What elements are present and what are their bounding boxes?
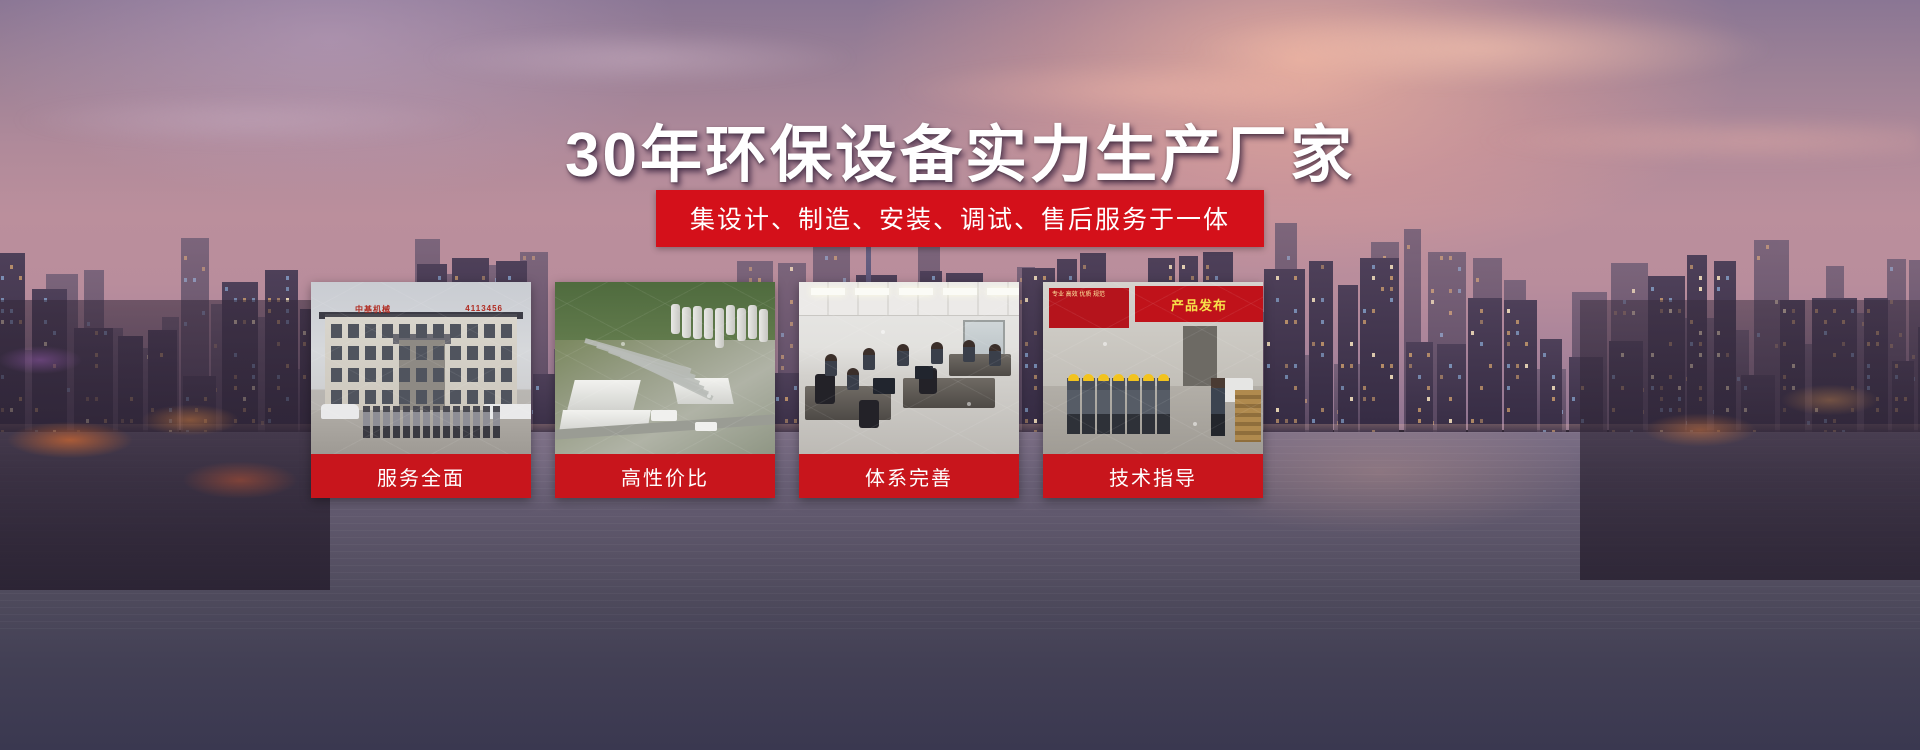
feature-card[interactable]: 专业 高效 优质 规范 产品发布 技术指导 bbox=[1043, 282, 1263, 498]
feature-card[interactable]: 体系完善 bbox=[799, 282, 1019, 498]
card-caption: 高性价比 bbox=[555, 454, 775, 498]
card-photo-headquarters: 中基机械 4113456 bbox=[311, 282, 531, 454]
building-sign-text: 中基机械 bbox=[355, 304, 391, 315]
promo-banner: 30年环保设备实力生产厂家 集设计、制造、安装、调试、售后服务于一体 中基机械 … bbox=[0, 0, 1920, 750]
page-title: 30年环保设备实力生产厂家 bbox=[0, 104, 1920, 194]
building-phone-text: 4113456 bbox=[465, 304, 503, 313]
factory-side-banner: 专业 高效 优质 规范 bbox=[1049, 288, 1129, 328]
subtitle-wrap: 集设计、制造、安装、调试、售后服务于一体 bbox=[0, 190, 1920, 247]
right-riverbank bbox=[1580, 300, 1920, 580]
subtitle-badge: 集设计、制造、安装、调试、售后服务于一体 bbox=[656, 190, 1264, 247]
card-caption: 技术指导 bbox=[1043, 454, 1263, 498]
feature-card-list: 中基机械 4113456 服务全面 高性价比 bbox=[311, 282, 1527, 498]
card-caption: 体系完善 bbox=[799, 454, 1019, 498]
card-photo-workers: 专业 高效 优质 规范 产品发布 bbox=[1043, 282, 1263, 454]
factory-red-banner: 产品发布 bbox=[1135, 286, 1263, 322]
feature-card[interactable]: 中基机械 4113456 服务全面 bbox=[311, 282, 531, 498]
card-caption: 服务全面 bbox=[311, 454, 531, 498]
factory-banner-text: 产品发布 bbox=[1171, 295, 1227, 314]
card-photo-office bbox=[799, 282, 1019, 454]
feature-card[interactable]: 高性价比 bbox=[555, 282, 775, 498]
card-photo-plant bbox=[555, 282, 775, 454]
left-riverbank-trees bbox=[0, 300, 330, 590]
